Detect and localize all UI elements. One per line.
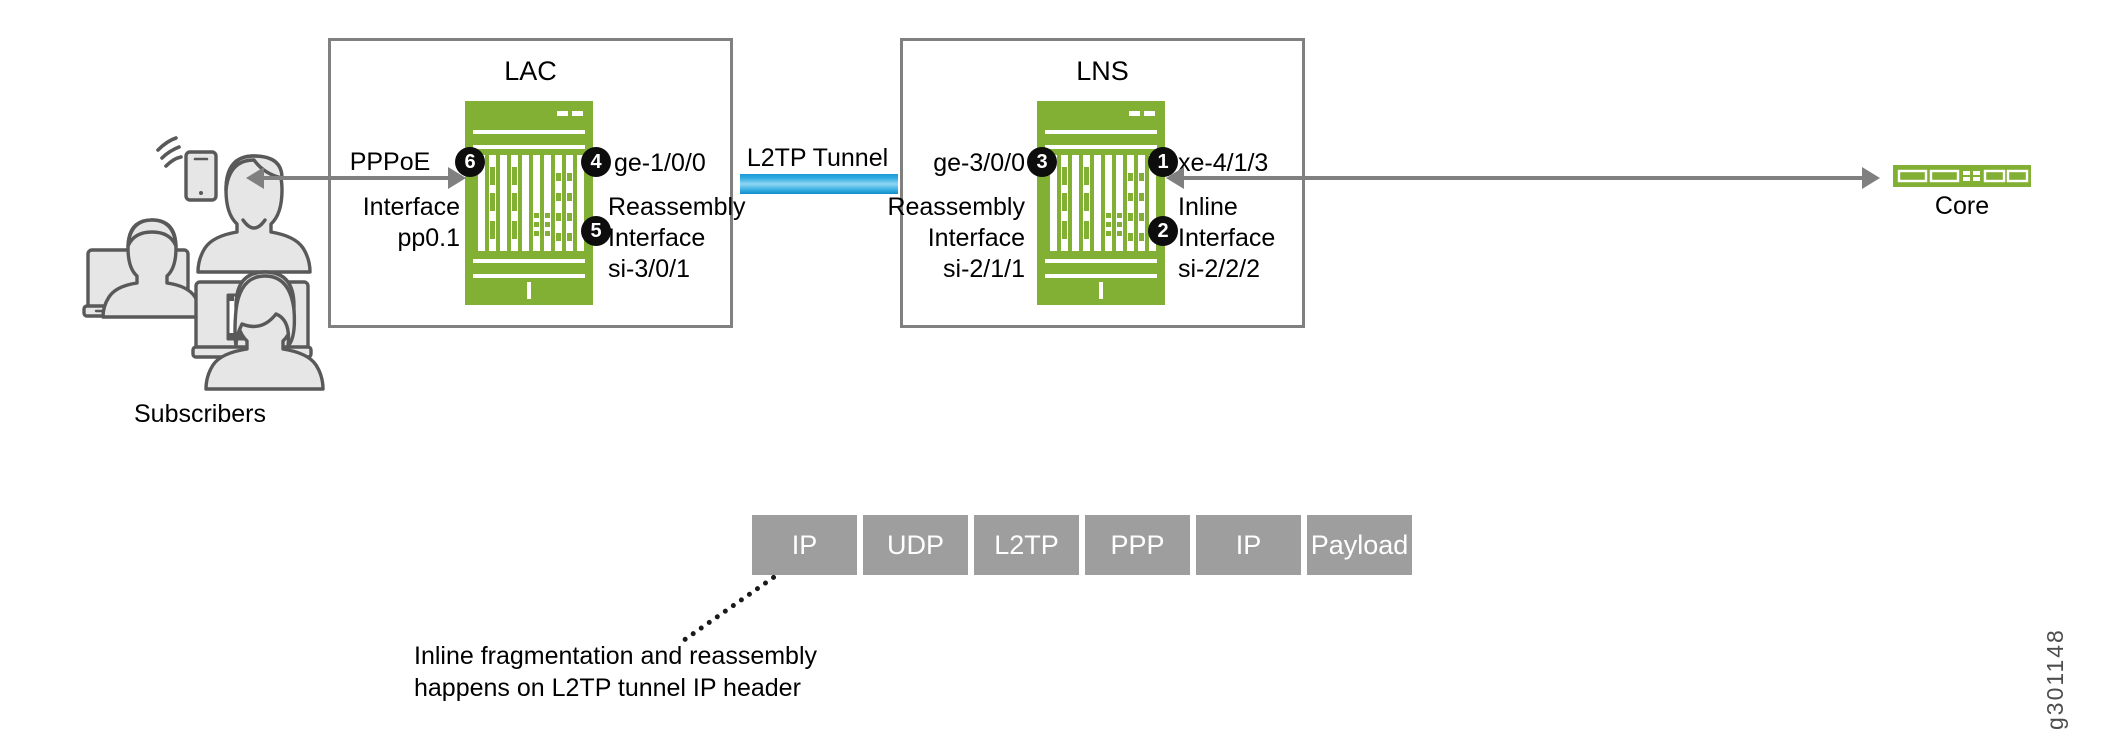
core-router-svg [1893, 165, 2031, 187]
lns-inline-line2: Interface [1178, 224, 1275, 252]
callout-badge-3: 3 [1027, 147, 1057, 177]
packet-field: Payload [1307, 515, 1412, 575]
packet-field: IP [1196, 515, 1301, 575]
core-arrow-right [1862, 167, 1880, 189]
packet-field: PPP [1085, 515, 1190, 575]
lns-reassembly-line2: Interface [928, 224, 1025, 252]
lns-inline-line1: Inline [1178, 193, 1238, 221]
lns-reassembly-line1: Reassembly [887, 193, 1025, 221]
lac-reassembly-line2: Interface [608, 224, 705, 252]
lns-xe-port-label: xe-4/1/3 [1178, 148, 1268, 179]
lac-reassembly-label: ReassemblyInterfacesi-3/0/1 [608, 192, 746, 285]
callout-badge-4: 4 [581, 147, 611, 177]
lac-reassembly-line1: Reassembly [608, 193, 746, 221]
lac-group-title: LAC [328, 56, 733, 87]
subscribers-label: Subscribers [60, 400, 340, 429]
lns-group-title: LNS [900, 56, 1305, 87]
core-label: Core [1893, 192, 2031, 221]
callout-badge-6: 6 [455, 147, 485, 177]
packet-field: IP [752, 515, 857, 575]
lac-interface-line1: Interface [363, 193, 460, 221]
figure-id-watermark: g301148 [2042, 628, 2069, 730]
callout-badge-2: 2 [1148, 216, 1178, 246]
lac-reassembly-line3: si-3/0/1 [608, 255, 690, 283]
core-link-line [1184, 176, 1874, 180]
lac-interface-line2: pp0.1 [397, 224, 460, 252]
callout-badge-5: 5 [581, 216, 611, 246]
lns-inline-line3: si-2/2/2 [1178, 255, 1260, 283]
lns-reassembly-label: ReassemblyInterfacesi-2/1/1 [845, 192, 1025, 285]
callout-badge-1: 1 [1148, 147, 1178, 177]
pppoe-arrow-left [246, 167, 264, 189]
caption-line2: happens on L2TP tunnel IP header [414, 674, 801, 702]
lac-interface-label: Interfacepp0.1 [300, 192, 460, 254]
packet-leader-line [682, 574, 777, 643]
lns-inline-label: InlineInterfacesi-2/2/2 [1178, 192, 1275, 285]
lns-router-chassis [1037, 101, 1165, 305]
lac-port-label: ge-1/0/0 [614, 148, 706, 179]
lns-port-label: ge-3/0/0 [865, 148, 1025, 179]
caption-line1: Inline fragmentation and reassembly [414, 642, 817, 670]
packet-field: UDP [863, 515, 968, 575]
diagram-canvas: Subscribers LAC LNS PPPoE Interfacepp0.1 [0, 0, 2101, 749]
diagram-caption: Inline fragmentation and reassemblyhappe… [414, 640, 817, 704]
lns-reassembly-line3: si-2/1/1 [943, 255, 1025, 283]
pppoe-label: PPPoE [300, 147, 480, 178]
lac-router-chassis [465, 101, 593, 305]
packet-field: L2TP [974, 515, 1079, 575]
core-router-icon [1893, 165, 2031, 187]
